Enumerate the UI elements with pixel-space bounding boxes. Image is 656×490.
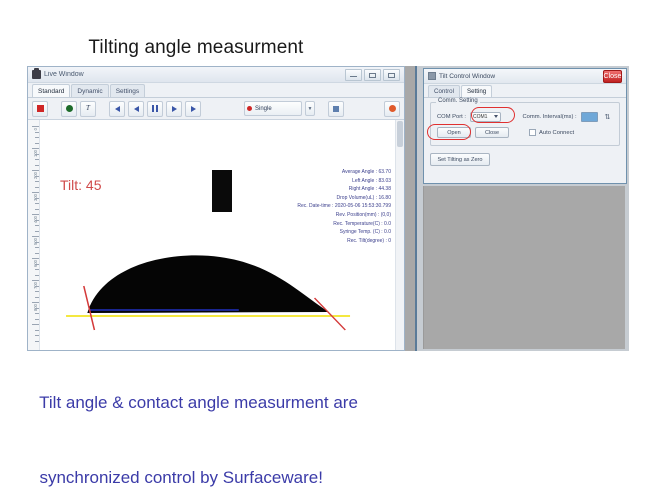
previous-frame-button[interactable] <box>109 101 125 117</box>
live-window-tabs: Standard Dynamic Settings <box>28 83 404 98</box>
fast-forward-icon <box>191 106 196 112</box>
tab-control[interactable]: Control <box>428 85 460 97</box>
ruler-tick-minor <box>35 209 39 210</box>
open-button[interactable]: Open <box>437 127 471 138</box>
text-tool-button[interactable]: T <box>80 101 96 117</box>
tilt-window-background <box>423 186 625 349</box>
chevron-down-icon <box>494 115 498 118</box>
com-port-row: COM Port : COM1 Comm. Interval(ms) : ⇅ <box>437 111 613 122</box>
ruler-tick-minor <box>35 154 39 155</box>
caption-line1: Tilt angle & contact angle measurment ar… <box>39 393 358 412</box>
ruler-tick-minor <box>35 187 39 188</box>
syringe-needle <box>212 170 232 212</box>
ruler-tick-major <box>32 126 39 127</box>
mode-value: Single <box>255 106 272 112</box>
mode-dropdown[interactable]: Single <box>244 101 302 116</box>
caption-line2: synchronized control by Surfaceware! <box>39 468 322 487</box>
tilt-close-icon[interactable]: Close <box>603 70 622 83</box>
live-button[interactable] <box>384 101 400 117</box>
com-port-label: COM Port : <box>437 114 466 120</box>
pause-button[interactable] <box>147 101 163 117</box>
readout-date-time: Rec. Date-time : 2020-05-06 15:53:30.799 <box>297 202 391 211</box>
camera-image-area[interactable]: Tilt: 45 Average Angle : 63.70 Left Angl… <box>40 120 395 350</box>
ruler-tick-minor <box>35 181 39 182</box>
ruler-tick-minor <box>35 269 39 270</box>
image-scrollbar[interactable] <box>395 120 404 350</box>
ruler-tick-minor <box>35 203 39 204</box>
rewind-icon <box>134 106 139 112</box>
comm-interval-input[interactable] <box>581 112 598 122</box>
auto-connect-label: Auto Connect <box>539 130 574 136</box>
comm-setting-group: Comm. Setting COM Port : COM1 Comm. Inte… <box>430 102 620 146</box>
ruler-tick-major <box>32 258 39 259</box>
tilt-readout: Tilt: 45 <box>60 177 102 193</box>
droplet-shape <box>87 255 328 313</box>
tab-standard[interactable]: Standard <box>32 84 70 97</box>
ruler-tick-minor <box>35 198 39 199</box>
droplet-svg <box>40 220 395 350</box>
live-window: Live Window Standard Dynamic Settings T <box>27 66 405 351</box>
ruler-tick-major <box>32 236 39 237</box>
readout-left-angle: Left Angle : 83.03 <box>297 177 391 186</box>
capture-button[interactable] <box>61 101 77 117</box>
ruler-label: 0 <box>34 128 38 130</box>
set-tilting-row: Set Tilting as Zero <box>430 153 620 166</box>
set-tilting-as-zero-button[interactable]: Set Tilting as Zero <box>430 153 490 166</box>
tilt-control-window: Tilt Control Window Close Control Settin… <box>415 66 629 351</box>
maximize-icon[interactable] <box>364 69 381 81</box>
live-window-title: Live Window <box>44 71 345 78</box>
ruler-tick-major <box>32 148 39 149</box>
text-icon: T <box>86 105 90 112</box>
screenshot-composite: Live Window Standard Dynamic Settings T <box>27 66 629 351</box>
ruler-tick-minor <box>35 176 39 177</box>
ruler-tick-minor <box>35 165 39 166</box>
play-icon <box>172 106 177 112</box>
slide-caption: Tilt angle & contact angle measurment ar… <box>30 365 358 490</box>
ruler-tick-major <box>32 170 39 171</box>
comm-setting-legend: Comm. Setting <box>436 98 480 104</box>
ruler-tick-minor <box>35 335 39 336</box>
readout-average-angle: Average Angle : 63.70 <box>297 168 391 177</box>
ruler-tick-major <box>32 324 39 325</box>
ruler-tick-minor <box>35 143 39 144</box>
readout-right-angle: Right Angle : 44.38 <box>297 185 391 194</box>
ruler-tick-minor <box>35 275 39 276</box>
slide-title-line1: Tilting angle measurment <box>88 37 303 58</box>
record-button[interactable] <box>32 101 48 117</box>
live-window-toolbar: T Single ▼ <box>28 98 404 120</box>
mode-icon <box>247 106 252 111</box>
close-icon[interactable] <box>383 69 400 81</box>
pause-icon <box>152 105 158 112</box>
ruler-tick-minor <box>35 225 39 226</box>
droplet-graphic <box>40 220 395 350</box>
ruler-tick-minor <box>35 231 39 232</box>
previous-icon <box>115 106 120 112</box>
spinner-icon[interactable]: ⇅ <box>602 111 613 122</box>
vertical-ruler: 0100200300400500600700800 <box>28 120 40 350</box>
ruler-tick-minor <box>35 220 39 221</box>
record-icon <box>37 105 44 112</box>
ruler-tick-minor <box>35 242 39 243</box>
readout-position: Rev. Position(mm) : (0,0) <box>297 211 391 220</box>
ruler-tick-minor <box>35 247 39 248</box>
auto-connect-checkbox[interactable] <box>529 129 536 136</box>
ruler-tick-major <box>32 214 39 215</box>
tilt-window-tabs: Control Setting <box>424 84 626 98</box>
ruler-tick-minor <box>35 132 39 133</box>
comm-interval-label: Comm. Interval(ms) : <box>522 114 576 120</box>
ruler-tick-minor <box>35 319 39 320</box>
ruler-tick-minor <box>35 341 39 342</box>
ruler-tick-major <box>32 280 39 281</box>
live-canvas-wrapper: 0100200300400500600700800 Tilt: 45 Avera… <box>28 120 404 350</box>
ruler-tick-minor <box>35 159 39 160</box>
scrollbar-thumb[interactable] <box>397 121 403 147</box>
step-forward-button[interactable] <box>166 101 182 117</box>
tilt-window-title: Tilt Control Window <box>439 73 603 80</box>
ruler-tick-minor <box>35 253 39 254</box>
ruler-tick-minor <box>35 330 39 331</box>
connect-row: Open Close Auto Connect <box>437 127 613 138</box>
tilt-window-body: Comm. Setting COM Port : COM1 Comm. Inte… <box>424 98 626 183</box>
ruler-tick-major <box>32 192 39 193</box>
ruler-tick-minor <box>35 264 39 265</box>
ruler-tick-minor <box>35 291 39 292</box>
com-port-value: COM1 <box>473 114 487 120</box>
ruler-tick-minor <box>35 137 39 138</box>
com-port-dropdown[interactable]: COM1 <box>470 112 501 122</box>
app-icon <box>32 70 41 79</box>
readout-drop-volume: Drop Volume(uL) : 16.80 <box>297 194 391 203</box>
capture-icon <box>66 105 73 112</box>
live-window-titlebar: Live Window <box>28 67 404 83</box>
rewind-button[interactable] <box>128 101 144 117</box>
right-tangent-line <box>315 298 346 330</box>
tilt-window-titlebar: Tilt Control Window Close <box>424 69 626 84</box>
ruler-tick-major <box>32 302 39 303</box>
tilt-app-icon <box>428 72 436 80</box>
tab-setting[interactable]: Setting <box>461 85 492 97</box>
stop-button[interactable] <box>328 101 344 117</box>
tab-dynamic[interactable]: Dynamic <box>71 84 108 97</box>
fast-forward-button[interactable] <box>185 101 201 117</box>
stop-icon <box>333 106 339 112</box>
auto-connect-row[interactable]: Auto Connect <box>529 129 574 136</box>
tilt-window-frame: Tilt Control Window Close Control Settin… <box>423 68 627 184</box>
ruler-tick-minor <box>35 286 39 287</box>
close-button[interactable]: Close <box>475 127 509 138</box>
tab-settings[interactable]: Settings <box>110 84 146 97</box>
ruler-tick-minor <box>35 313 39 314</box>
live-icon <box>389 105 396 112</box>
ruler-tick-minor <box>35 308 39 309</box>
minimize-icon[interactable] <box>345 69 362 81</box>
ruler-tick-minor <box>35 297 39 298</box>
mode-spinner[interactable]: ▼ <box>305 101 315 116</box>
window-buttons <box>345 69 400 81</box>
